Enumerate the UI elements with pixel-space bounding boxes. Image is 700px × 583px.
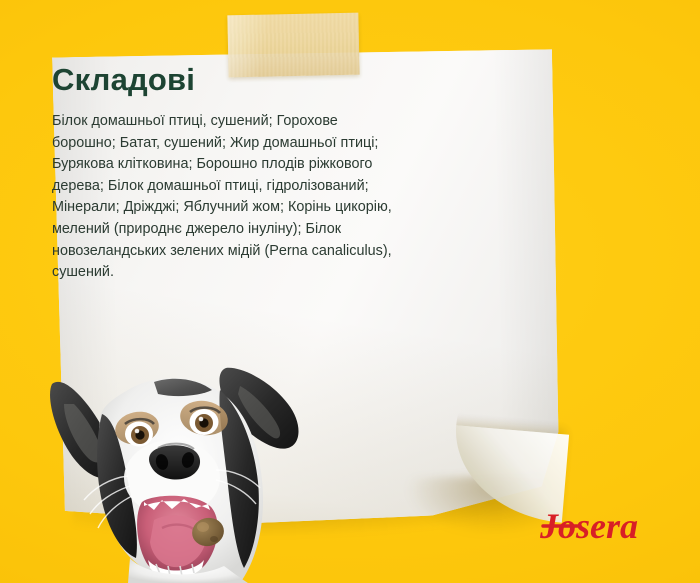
page-title: Складові [52,62,472,98]
border-collie-catching-treat-icon [44,352,316,583]
note-content: Складові Білок домашньої птиці, сушений;… [52,62,472,284]
ingredients-line: Бурякова клітковина; Борошно плодів ріжк… [52,154,472,176]
promo-image-canvas: Складові Білок домашньої птиці, сушений;… [0,0,700,583]
ingredients-line: сушений. [52,262,472,284]
ingredients-line: мелений (природнє джерело інуліну); Біло… [52,219,472,241]
josera-logo: Josera [540,505,668,549]
ingredients-line: дерева; Білок домашньої птиці, гідролізо… [52,176,472,198]
ingredients-line: Білок домашньої птиці, сушений; Горохове [52,111,472,133]
ingredients-line: новозеландських зелених мідій (Perna can… [52,241,472,263]
ingredients-line: Мінерали; Дріжджі; Яблучний жом; Корінь … [52,197,472,219]
ingredients-text: Білок домашньої птиці, сушений; Горохове… [52,111,472,284]
ingredients-line: борошно; Батат, сушений; Жир домашньої п… [52,133,472,155]
